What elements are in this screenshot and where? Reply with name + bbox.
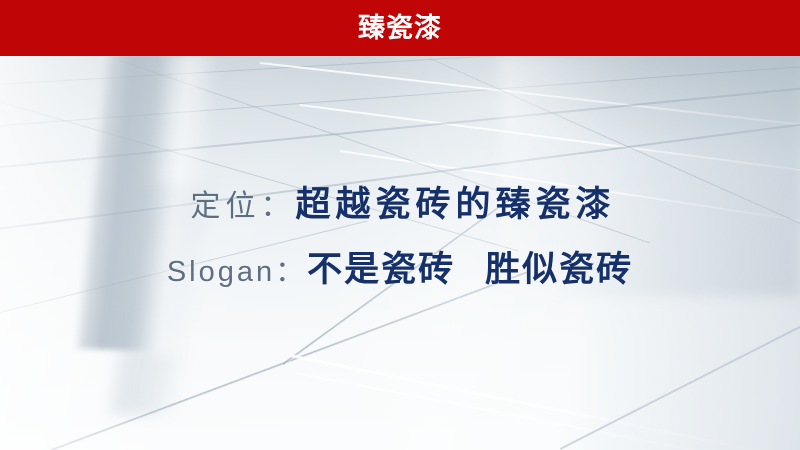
slide-text-block: 定位： 超越瓷砖的臻瓷漆 Slogan： 不是瓷砖 胜似瓷砖: [0, 176, 800, 292]
slogan-line: Slogan： 不是瓷砖 胜似瓷砖: [0, 241, 800, 292]
header-title: 臻瓷漆: [358, 15, 442, 42]
slogan-label: Slogan：: [167, 248, 307, 290]
slogan-value-second: 胜似瓷砖: [485, 241, 633, 292]
header-bar: 臻瓷漆: [0, 0, 800, 56]
positioning-value: 超越瓷砖的臻瓷漆: [295, 176, 615, 227]
presentation-slide: 臻瓷漆 定位： 超越瓷砖的臻瓷漆 Slogan： 不是瓷砖 胜似瓷砖: [0, 0, 800, 450]
positioning-line: 定位： 超越瓷砖的臻瓷漆: [6, 176, 800, 227]
positioning-label: 定位：: [190, 181, 295, 225]
slogan-value-first: 不是瓷砖: [307, 241, 455, 292]
